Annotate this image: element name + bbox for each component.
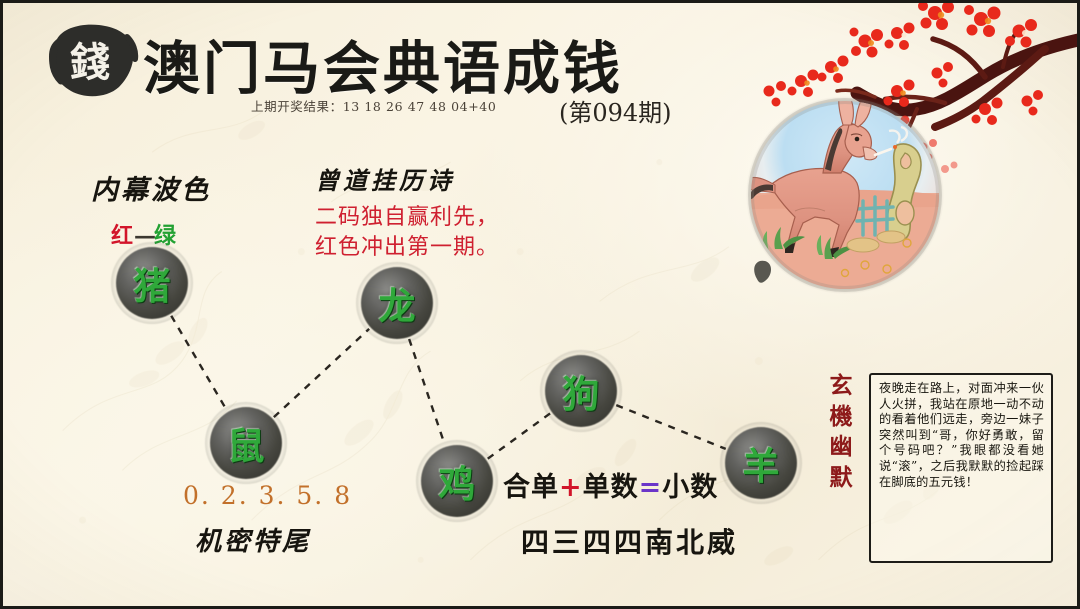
- formula-term-b: 单数: [583, 472, 639, 503]
- humor-box: 夜晚走在路上，对面冲来一伙人火拼，我站在原地一动不动的看着他们远走，旁边一妹子突…: [869, 373, 1053, 563]
- zodiac-label: 猪: [134, 256, 171, 310]
- zodiac-bubble[interactable]: 狗: [545, 355, 617, 427]
- tail-numbers: 0. 2. 3. 5. 8: [183, 481, 352, 510]
- humor-label-char: 默: [825, 463, 857, 494]
- zodiac-label: 羊: [743, 436, 780, 490]
- zodiac-bubble[interactable]: 羊: [725, 427, 797, 499]
- bottom-phrase: 四三四四南北威: [521, 521, 738, 561]
- formula-plus: +: [559, 472, 583, 503]
- zodiac-bubble[interactable]: 龙: [361, 267, 433, 339]
- seal-logo: 錢: [41, 21, 139, 99]
- formula-term-c: 小数: [662, 472, 718, 503]
- inside-color-title: 内幕波色: [91, 168, 211, 207]
- tail-label: 机密特尾: [195, 521, 311, 558]
- humor-label-char: 玄: [825, 371, 857, 402]
- page-title: 澳门马会典语成钱: [143, 23, 623, 105]
- formula-term-a: 合单: [503, 472, 559, 503]
- formula-equals: =: [639, 472, 663, 503]
- poem-line-1: 二码独自赢利先，: [315, 203, 499, 233]
- poem-title: 曾道挂历诗: [315, 161, 455, 196]
- humor-text: 夜晚走在路上，对面冲来一伙人火拼，我站在原地一动不动的看着他们远走，旁边一妹子突…: [879, 381, 1044, 490]
- zodiac-label: 鼠: [228, 416, 265, 470]
- artwork-panel: [745, 0, 1080, 307]
- poem-body: 二码独自赢利先， 红色冲出第一期。: [315, 203, 499, 262]
- humor-vertical-label: 玄機幽默: [825, 371, 857, 493]
- humor-label-char: 機: [825, 402, 857, 433]
- seal-text: 錢: [41, 21, 139, 99]
- zodiac-bubble[interactable]: 猪: [116, 247, 188, 319]
- zodiac-label: 狗: [563, 364, 600, 418]
- formula-expression: 合单+单数=小数: [503, 465, 718, 504]
- issue-number: (第094期): [559, 93, 672, 128]
- poster-root: 錢 澳门马会典语成钱 上期开奖结果：13 18 26 47 48 04+40 (…: [0, 0, 1080, 609]
- last-draw-result: 上期开奖结果：13 18 26 47 48 04+40: [251, 96, 496, 115]
- zodiac-label: 龙: [379, 276, 416, 330]
- zodiac-bubble[interactable]: 鼠: [210, 407, 282, 479]
- zodiac-bubble[interactable]: 鸡: [421, 445, 493, 517]
- poem-line-2: 红色冲出第一期。: [315, 233, 499, 263]
- zodiac-label: 鸡: [439, 454, 476, 508]
- humor-label-char: 幽: [825, 432, 857, 463]
- artwork-svg: [745, 0, 1080, 307]
- color-first: 红: [111, 223, 134, 249]
